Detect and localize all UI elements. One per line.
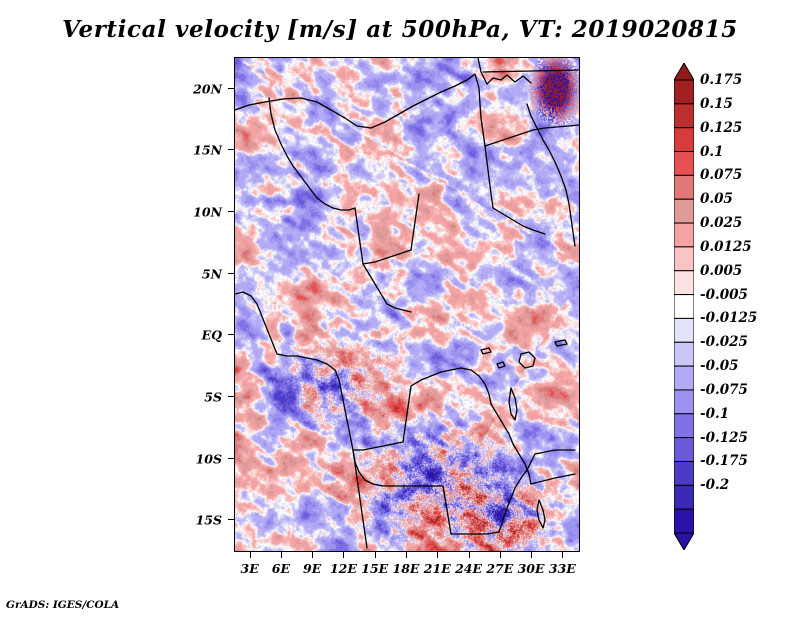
colorbar-arrow-bottom xyxy=(674,533,694,550)
x-tick-label: 18E xyxy=(393,561,420,576)
colorbar-tick-label: 0.075 xyxy=(700,167,742,183)
colorbar-arrow-top xyxy=(674,63,694,80)
colorbar-tick-label: -0.05 xyxy=(700,358,738,374)
colorbar-swatch xyxy=(674,414,694,438)
colorbar-tick-label: -0.0125 xyxy=(700,310,757,326)
colorbar-tick-label: 0.15 xyxy=(700,96,733,112)
colorbar-swatch xyxy=(674,366,694,390)
grads-credit: GrADS: IGES/COLA xyxy=(6,599,119,611)
colorbar-swatch xyxy=(674,461,694,485)
colorbar-tick-label: -0.005 xyxy=(700,287,748,303)
colorbar-tick-label: -0.075 xyxy=(700,382,748,398)
colorbar-swatch xyxy=(674,485,694,509)
x-tick-label: 27E xyxy=(486,561,513,576)
colorbar-swatch xyxy=(674,104,694,128)
colorbar-tick-label: -0.025 xyxy=(700,334,748,350)
x-tick-label: 15E xyxy=(361,561,388,576)
x-tick-label: 21E xyxy=(424,561,451,576)
colorbar-tick-label: 0.0125 xyxy=(700,239,752,255)
x-tick-label: 3E xyxy=(241,561,259,576)
colorbar-tick-label: 0.1 xyxy=(700,144,724,160)
colorbar-tick-label: -0.125 xyxy=(700,430,748,446)
x-tick-label: 30E xyxy=(518,561,545,576)
colorbar-swatch xyxy=(674,342,694,366)
x-tick-label: 24E xyxy=(455,561,482,576)
colorbar-tick-label: 0.005 xyxy=(700,263,742,279)
colorbar[interactable] xyxy=(674,63,694,550)
colorbar-swatch xyxy=(674,390,694,414)
x-tick-label: 9E xyxy=(303,561,321,576)
colorbar-swatch xyxy=(674,199,694,223)
colorbar-tick-label: 0.05 xyxy=(700,191,733,207)
colorbar-swatch xyxy=(674,438,694,462)
x-tick-label: 12E xyxy=(330,561,357,576)
colorbar-swatch xyxy=(674,247,694,271)
colorbar-tick-label: -0.175 xyxy=(700,453,748,469)
x-tick-label: 6E xyxy=(272,561,290,576)
colorbar-swatch xyxy=(674,318,694,342)
colorbar-swatch xyxy=(674,295,694,319)
colorbar-tick-label: -0.2 xyxy=(700,477,729,493)
colorbar-swatch xyxy=(674,271,694,295)
colorbar-swatch xyxy=(674,80,694,104)
colorbar-tick-label: -0.1 xyxy=(700,406,729,422)
colorbar-swatch xyxy=(674,223,694,247)
colorbar-tick-label: 0.025 xyxy=(700,215,742,231)
colorbar-swatch xyxy=(674,509,694,533)
colorbar-swatch xyxy=(674,152,694,176)
colorbar-swatches xyxy=(674,63,694,550)
colorbar-tick-label: 0.175 xyxy=(700,72,742,88)
colorbar-tick-label: 0.125 xyxy=(700,120,742,136)
x-tick-label: 33E xyxy=(549,561,576,576)
colorbar-swatch xyxy=(674,175,694,199)
colorbar-swatch xyxy=(674,128,694,152)
